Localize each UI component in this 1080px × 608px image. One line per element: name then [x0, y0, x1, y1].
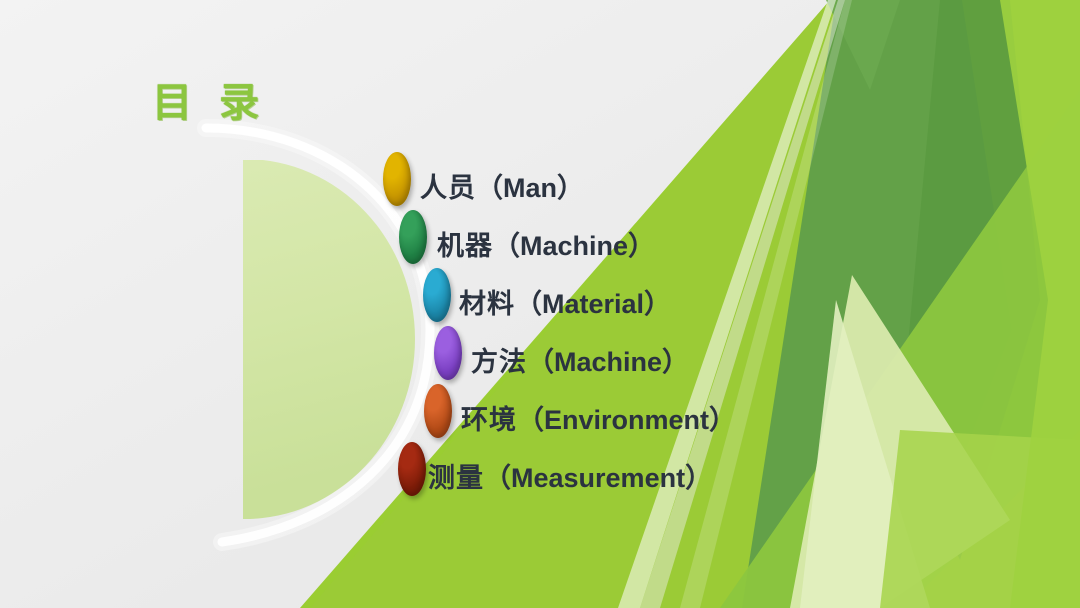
contents-item-label-cn: 机器: [437, 231, 493, 261]
contents-item-label-en: （Man）: [476, 173, 584, 203]
contents-item-label: 环境（Environment）: [461, 398, 736, 437]
list-bullet-ellipse-icon: [424, 384, 452, 438]
list-bullet-ellipse-icon: [398, 442, 426, 496]
contents-item-label-en: （Environment）: [517, 405, 736, 435]
contents-item-label: 机器（Machine）: [437, 224, 655, 263]
contents-item-label-en: （Measurement）: [484, 463, 712, 493]
contents-item-label-cn: 方法: [471, 347, 527, 377]
list-bullet-ellipse-icon: [423, 268, 451, 322]
contents-item-label-en: （Machine）: [527, 347, 689, 377]
contents-item-label: 人员（Man）: [420, 166, 584, 205]
contents-item-label: 方法（Machine）: [471, 340, 689, 379]
contents-item-label-en: （Machine）: [493, 231, 655, 261]
presentation-slide: 目 录 人员（Man）机器（Machine）材料（Material）方法（Mac…: [0, 0, 1080, 608]
list-bullet-ellipse-icon: [399, 210, 427, 264]
contents-list: 人员（Man）机器（Machine）材料（Material）方法（Machine…: [0, 0, 1080, 608]
contents-item-label: 材料（Material）: [459, 282, 671, 321]
contents-item-label-cn: 环境: [461, 405, 517, 435]
contents-item-label-cn: 人员: [420, 173, 476, 203]
contents-item-label-cn: 测量: [428, 463, 484, 493]
list-bullet-ellipse-icon: [434, 326, 462, 380]
list-bullet-ellipse-icon: [383, 152, 411, 206]
contents-item-label-cn: 材料: [459, 289, 515, 319]
contents-item-label: 测量（Measurement）: [428, 456, 712, 495]
contents-item-label-en: （Material）: [515, 289, 671, 319]
